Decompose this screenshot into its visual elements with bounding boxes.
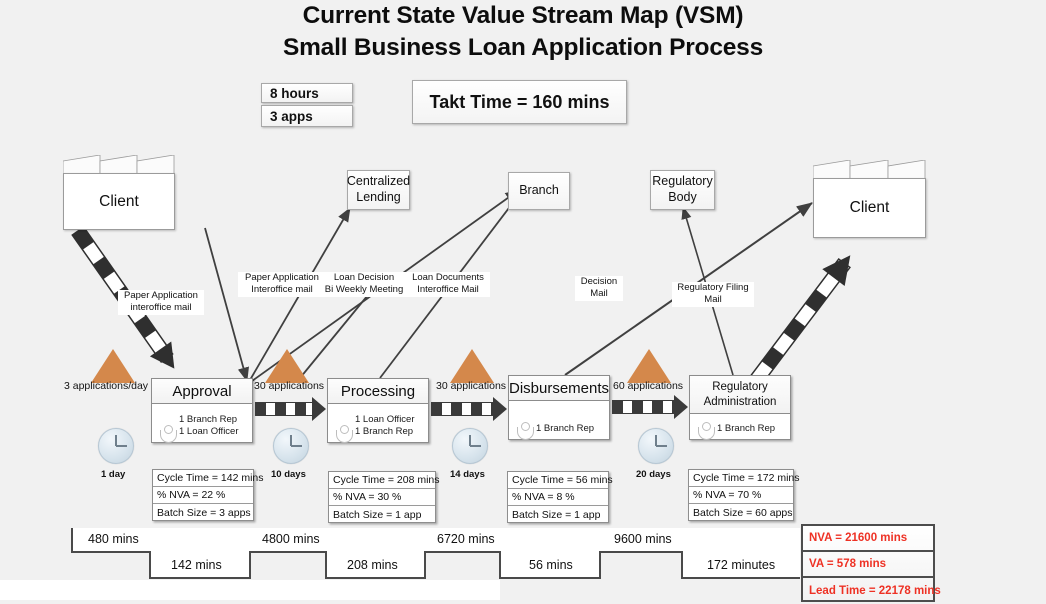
metric-cycle-time: Cycle Time = 208 mins [329,472,435,489]
process-box-disbursements[interactable]: Disbursements 1 Branch Rep [508,375,610,440]
metric-nva: % NVA = 8 % [508,489,608,506]
process-title-approval: Approval [152,379,252,404]
metric-batch-size: Batch Size = 3 apps [153,504,253,521]
inventory-label-1: 3 applications/day [64,380,148,392]
clock-icon-3 [452,428,488,464]
takt-time-label: Takt Time = 160 mins [430,92,610,113]
process-operators-approval: 1 Branch Rep 1 Loan Officer [160,414,239,438]
flow-label-line2: Mail [577,288,621,300]
process-operators-regulatory-administration: 1 Branch Rep [698,422,775,435]
centralized-lending-line2: Lending [356,190,401,206]
summary-va: VA = 578 mins [803,552,933,578]
operator-icon [336,425,351,437]
summary-box: NVA = 21600 mins VA = 578 mins Lead Time… [801,524,935,602]
inventory-triangle-1 [91,349,135,383]
flow-label-loan-decision: Loan Decision Bi Weekly Meeting [322,272,406,297]
operator-line-1: 1 Loan Officer [355,414,415,426]
process-title-processing: Processing [328,379,428,404]
metric-batch-size: Batch Size = 60 apps [689,504,793,521]
entity-client-right-label: Client [850,199,890,217]
flow-label-line1: Loan Documents [408,272,488,284]
timeline-nva-1: 480 mins [88,532,139,546]
bottom-white-band [0,580,500,600]
metric-cycle-time: Cycle Time = 56 mins [508,472,608,489]
timeline-va-1: 142 mins [171,558,222,572]
wait-label-4: 20 days [636,469,671,480]
entity-branch: Branch [508,172,570,210]
regulatory-body-line2: Body [668,190,697,206]
metric-batch-size: Batch Size = 1 app [508,506,608,523]
operator-icon [698,422,713,434]
flow-label-line1: Regulatory Filing [674,282,752,294]
flow-label-line2: Interoffice mail [240,284,324,296]
timeline-va-2: 208 mins [347,558,398,572]
operator-icon [160,425,175,437]
flow-label-approval-to-centralized: Paper Application Interoffice mail [238,272,326,297]
operator-line-2: 1 Branch Rep [355,426,415,438]
page-title-line1: Current State Value Stream Map (VSM) [0,2,1046,30]
process-box-processing[interactable]: Processing 1 Loan Officer 1 Branch Rep [327,378,429,443]
process-box-regulatory-administration[interactable]: Regulatory Administration 1 Branch Rep [689,375,791,440]
inventory-triangle-2 [265,349,309,383]
timeline-nva-3: 6720 mins [437,532,495,546]
page-title-line2: Small Business Loan Application Process [0,34,1046,62]
flow-label-decision-mail: Decision Mail [575,276,623,301]
process-operators-disbursements: 1 Branch Rep [517,422,594,435]
flow-label-client-to-approval: Paper Application interoffice mail [118,290,204,315]
summary-lead-time: Lead Time = 22178 mins [803,578,933,604]
wait-label-1: 1 day [101,469,125,480]
branch-label: Branch [519,183,559,199]
flow-label-line1: Paper Application [120,290,202,302]
push-arrow-3 [612,400,689,414]
timeline-nva-2: 4800 mins [262,532,320,546]
available-time-box: 8 hours [261,83,353,103]
metric-batch-size: Batch Size = 1 app [329,506,435,523]
metric-nva: % NVA = 30 % [329,489,435,506]
wait-label-2: 10 days [271,469,306,480]
process-box-approval[interactable]: Approval 1 Branch Rep 1 Loan Officer [151,378,253,443]
entity-centralized-lending: Centralized Lending [347,170,410,210]
demand-value: 3 apps [262,106,352,126]
metric-cycle-time: Cycle Time = 142 mins [153,470,253,487]
push-arrow-2 [431,402,508,416]
data-box-approval: Cycle Time = 142 mins % NVA = 22 % Batch… [152,469,254,521]
operator-line-1: 1 Branch Rep [179,414,239,426]
process-title-regulatory-administration: Regulatory Administration [690,376,790,414]
takt-time-box: Takt Time = 160 mins [412,80,627,124]
factory-roof-icon [63,155,175,174]
entity-client-left: Client [63,155,175,230]
metric-nva: % NVA = 70 % [689,487,793,504]
data-box-processing: Cycle Time = 208 mins % NVA = 30 % Batch… [328,471,436,523]
inventory-triangle-4 [627,349,671,383]
process-operators-processing: 1 Loan Officer 1 Branch Rep [336,414,415,438]
wait-label-3: 14 days [450,469,485,480]
entity-client-right: Client [813,160,926,238]
flow-label-line2: Mail [674,294,752,306]
inventory-label-4: 60 applications [613,380,683,392]
clock-icon-4 [638,428,674,464]
regulatory-body-line1: Regulatory [652,174,712,190]
metric-cycle-time: Cycle Time = 172 mins [689,470,793,487]
operator-line-1: 1 Branch Rep [536,423,594,435]
operator-line-1: 1 Branch Rep [717,423,775,435]
push-arrow-1 [255,402,327,416]
timeline-nva-4: 9600 mins [614,532,672,546]
flow-label-line1: Loan Decision [324,272,404,284]
timeline-va-3: 56 mins [529,558,573,572]
demand-box: 3 apps [261,105,353,127]
process-title-line2: Administration [704,395,777,409]
entity-regulatory-body: Regulatory Body [650,170,715,210]
inventory-label-3: 30 applications [436,380,506,392]
flow-label-line1: Paper Application [240,272,324,284]
inventory-label-2: 30 applications [254,380,324,392]
factory-roof-icon [813,160,926,179]
clock-icon-1 [98,428,134,464]
flow-label-line1: Decision [577,276,621,288]
available-time-value: 8 hours [262,84,352,102]
flow-label-line2: interoffice mail [120,302,202,314]
data-box-regulatory-administration: Cycle Time = 172 mins % NVA = 70 % Batch… [688,469,794,521]
operator-icon [517,422,532,434]
timeline-va-4: 172 minutes [707,558,775,572]
clock-icon-2 [273,428,309,464]
entity-client-left-label: Client [99,193,139,211]
centralized-lending-line1: Centralized [347,174,410,190]
flow-label-loan-documents: Loan Documents Interoffice Mail [406,272,490,297]
operator-line-2: 1 Loan Officer [179,426,239,438]
inventory-triangle-3 [450,349,494,383]
flow-label-regulatory-filing: Regulatory Filing Mail [672,282,754,307]
flow-label-line2: Interoffice Mail [408,284,488,296]
summary-nva: NVA = 21600 mins [803,526,933,552]
process-title-disbursements: Disbursements [509,376,609,401]
process-title-line1: Regulatory [712,380,768,394]
data-box-disbursements: Cycle Time = 56 mins % NVA = 8 % Batch S… [507,471,609,523]
flow-label-line2: Bi Weekly Meeting [324,284,404,296]
metric-nva: % NVA = 22 % [153,487,253,504]
